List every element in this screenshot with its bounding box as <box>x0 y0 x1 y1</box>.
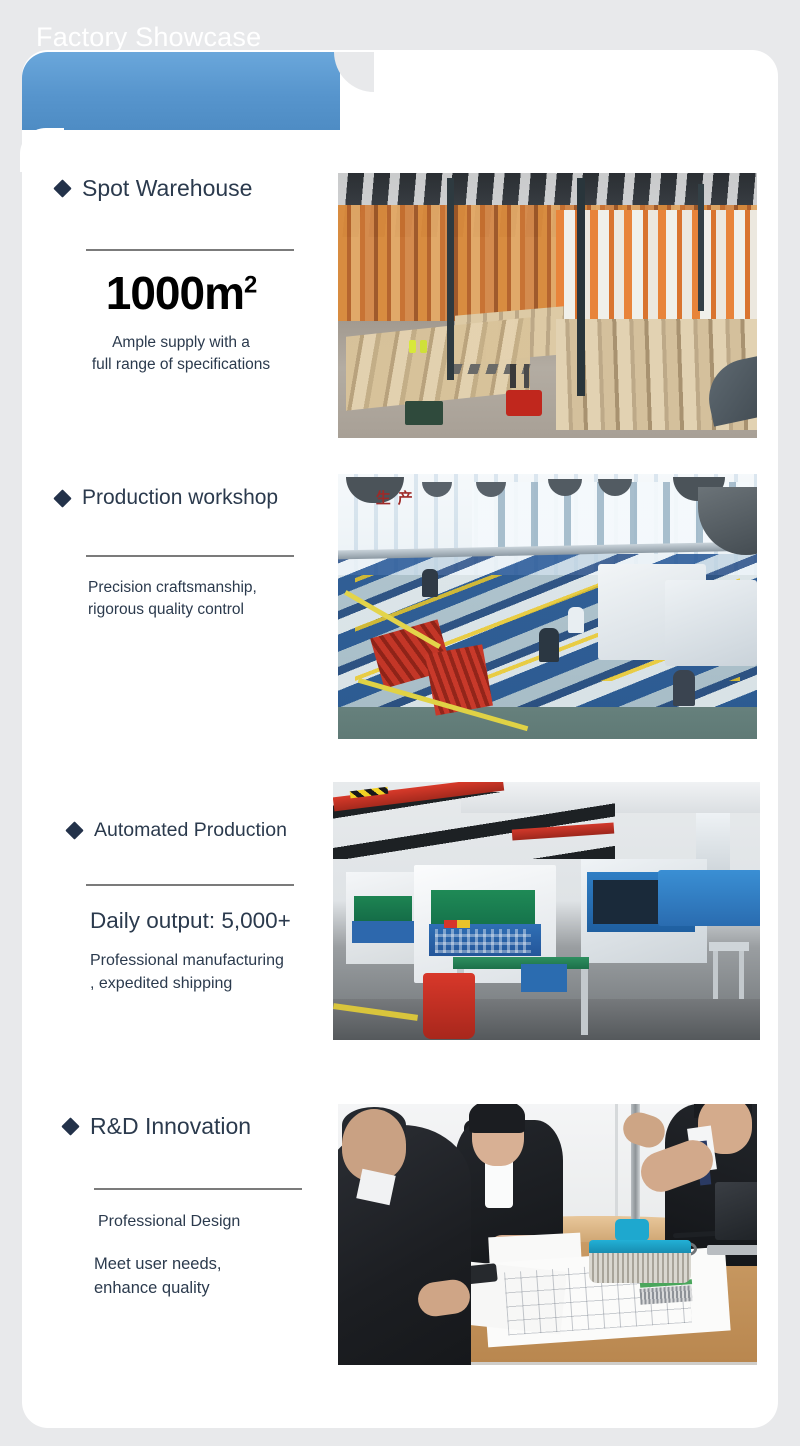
diamond-icon <box>61 1117 79 1135</box>
warehouse-column <box>698 184 704 311</box>
workshop-worker <box>673 670 695 706</box>
header-tab <box>22 52 340 130</box>
page-title: Factory Showcase <box>36 22 261 53</box>
warehouse-photo <box>338 173 757 438</box>
red-bucket <box>423 973 475 1039</box>
workshop-worker <box>539 628 559 662</box>
section-rd-innovation: R&D Innovation Professional Design Meet … <box>64 1113 324 1301</box>
stat-number: 1000m <box>106 267 244 319</box>
section-heading-label: R&D Innovation <box>90 1113 251 1140</box>
section-divider <box>86 884 294 886</box>
section-heading: Automated Production <box>68 819 328 842</box>
stat-superscript: 2 <box>244 272 256 299</box>
warehouse-worker <box>420 340 427 353</box>
section-description-primary: Professional Design <box>98 1213 324 1231</box>
forklift-mast <box>524 364 529 388</box>
stat-value: Daily output: 5,000+ <box>90 908 328 934</box>
laptop-base <box>707 1245 757 1255</box>
injection-molding-machine <box>658 870 760 926</box>
production-workshop-photo: 生产 <box>338 474 757 739</box>
warehouse-crosswalk-marking <box>450 364 531 374</box>
section-heading-label: Automated Production <box>94 819 287 842</box>
laptop-icon <box>715 1182 757 1240</box>
diamond-icon <box>53 179 71 197</box>
workshop-wall-sign: 生产 <box>376 487 420 508</box>
section-heading-label: Spot Warehouse <box>82 175 252 202</box>
section-automated-production: Automated Production Daily output: 5,000… <box>68 819 328 995</box>
section-divider <box>86 555 294 557</box>
stool-top <box>709 942 749 951</box>
warehouse-bin <box>405 401 443 425</box>
broom-bristles <box>589 1253 691 1283</box>
molding-floor <box>333 999 760 1040</box>
person-hair <box>469 1104 525 1133</box>
section-divider <box>86 249 294 251</box>
warehouse-racking-right <box>556 210 757 327</box>
molding-indicator <box>457 920 470 928</box>
section-heading: Production workshop <box>56 486 306 510</box>
section-divider <box>94 1188 302 1190</box>
stool-leg <box>713 947 718 999</box>
section-heading: Spot Warehouse <box>56 175 306 202</box>
workshop-worker <box>422 569 438 597</box>
stat-value: 1000m2 <box>56 266 306 320</box>
section-spot-warehouse: Spot Warehouse 1000m2 Ample supply with … <box>56 175 306 376</box>
warehouse-worker <box>409 340 416 353</box>
molding-blue-panel <box>352 921 416 943</box>
stool-leg <box>739 947 744 999</box>
section-description: Ample supply with a full range of specif… <box>56 332 306 376</box>
warehouse-column <box>577 178 585 395</box>
section-heading: R&D Innovation <box>64 1113 324 1140</box>
forklift-mast <box>510 364 516 388</box>
warehouse-column <box>447 178 454 379</box>
section-description: Precision craftsmanship, rigorous qualit… <box>88 577 306 621</box>
forklift-icon <box>506 390 542 416</box>
section-production-workshop: Production workshop Precision craftsmans… <box>56 486 306 621</box>
workshop-worker <box>568 607 584 633</box>
rd-innovation-photo <box>338 1104 757 1365</box>
section-description-secondary: Meet user needs, enhance quality <box>94 1253 324 1301</box>
workbench-leg <box>581 963 588 1035</box>
workshop-machine <box>665 580 757 666</box>
section-heading-label: Production workshop <box>82 486 278 510</box>
molding-indicator <box>444 920 457 928</box>
molding-pegboard <box>435 929 531 953</box>
workbench-drawer <box>521 964 567 992</box>
section-description: Professional manufacturing , expedited s… <box>90 950 328 995</box>
molding-machine-window <box>593 880 667 924</box>
diamond-icon <box>53 489 71 507</box>
broom-neck <box>615 1219 649 1241</box>
diamond-icon <box>65 821 83 839</box>
automated-production-photo <box>333 782 760 1040</box>
product-sketch <box>639 1285 692 1305</box>
person-collar <box>356 1169 395 1205</box>
